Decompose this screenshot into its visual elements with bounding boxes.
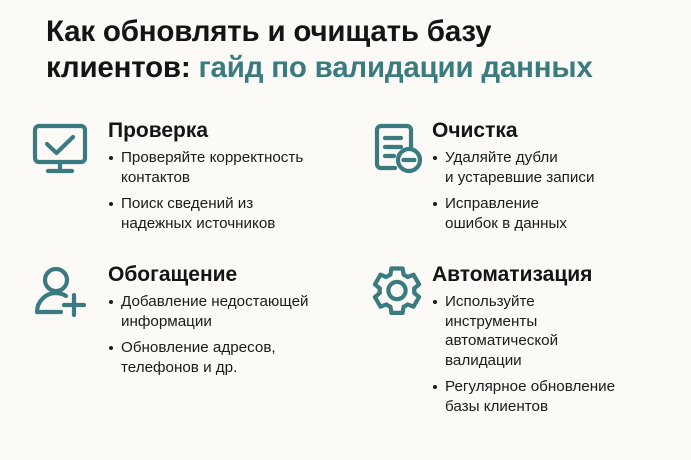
block-check-body: Проверка Проверяйте корректность контакт… (108, 118, 303, 233)
infographic-poster: Как обновлять и очищать базу клиентов: г… (0, 0, 691, 460)
user-plus-icon (30, 262, 92, 324)
page-title: Как обновлять и очищать базу клиентов: г… (46, 14, 656, 86)
title-line-1: Как обновлять и очищать базу (46, 14, 656, 50)
block-check-heading: Проверка (108, 118, 303, 143)
block-clean-bullets: Удаляйте дубли и устаревшие записи Испра… (432, 148, 594, 233)
block-enrich-body: Обогащение Добавление недостающей информ… (108, 262, 309, 377)
list-item: Добавление недостающей информации (108, 292, 309, 331)
list-item: Удаляйте дубли и устаревшие записи (432, 148, 594, 187)
block-enrich-bullets: Добавление недостающей информации Обновл… (108, 292, 309, 377)
title-line-2-accent: гайд по валидации данных (198, 51, 592, 84)
list-item: Проверяйте корректность контактов (108, 148, 303, 187)
list-item: Поиск сведений из надежных источников (108, 194, 303, 233)
block-automation-bullets: Используйте инструменты автоматической в… (432, 292, 615, 417)
list-item: Используйте инструменты автоматической в… (432, 292, 615, 370)
list-item: Исправление ошибок в данных (432, 194, 594, 233)
gear-icon (366, 262, 428, 324)
block-check-bullets: Проверяйте корректность контактов Поиск … (108, 148, 303, 233)
document-minus-icon (368, 118, 430, 180)
block-enrich-heading: Обогащение (108, 262, 309, 287)
list-item: Обновление адресов, телефонов и др. (108, 338, 309, 377)
list-item: Регулярное обновление базы клиентов (432, 377, 615, 416)
block-automation-heading: Автоматизация (432, 262, 615, 287)
title-line-2-plain: клиентов: (46, 51, 190, 84)
monitor-check-icon (30, 118, 92, 180)
block-clean-heading: Очистка (432, 118, 594, 143)
block-clean-body: Очистка Удаляйте дубли и устаревшие запи… (432, 118, 594, 233)
block-automation-body: Автоматизация Используйте инструменты ав… (432, 262, 615, 417)
title-line-2: клиентов: гайд по валидации данных (46, 50, 656, 86)
